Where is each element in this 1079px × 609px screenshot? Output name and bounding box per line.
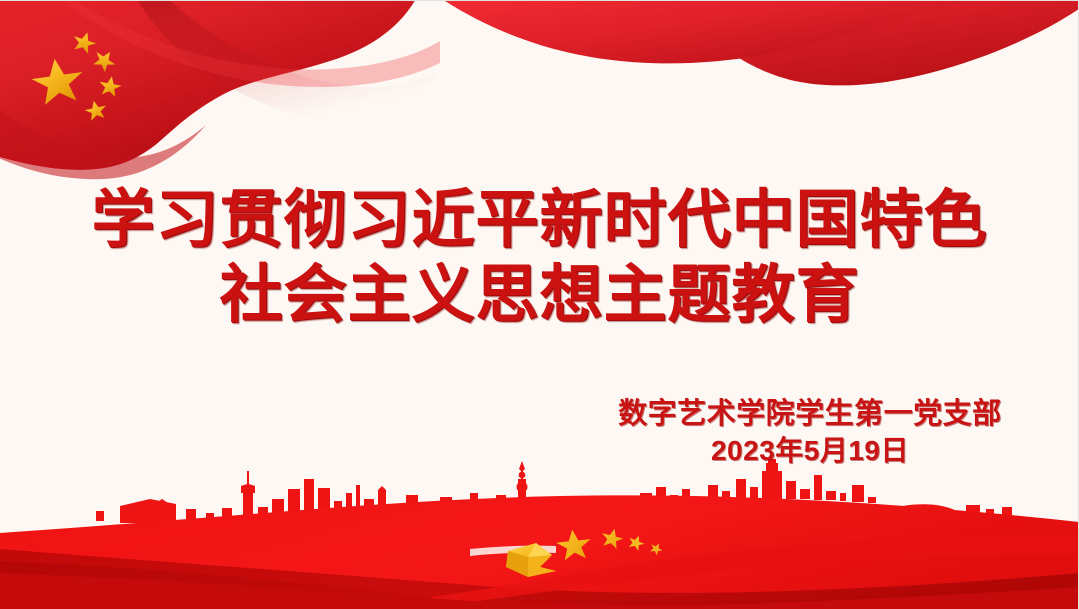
emblem-star-medium (599, 526, 625, 550)
flag-star-small-2 (90, 46, 120, 75)
emblem-star-small-2 (648, 540, 665, 556)
stadium-icon (546, 497, 632, 510)
flag-body-upper-right (300, 1, 1079, 85)
organization-name: 数字艺术学院学生第一党支部 (560, 399, 1060, 430)
band-notch-light (470, 546, 556, 556)
emblem-folded-ribbon (506, 543, 556, 577)
page-title: 学习贯彻习近平新时代中国特色 社会主义思想主题教育 (0, 189, 1079, 327)
flag-body-main (0, 1, 420, 170)
band-dark-upper-left (0, 549, 1079, 609)
flag-curl-right (430, 1, 1020, 63)
band-deep-lower-left (0, 561, 620, 609)
presentation-slide: 学习贯彻习近平新时代中国特色 社会主义思想主题教育 数字艺术学院学生第一党支部 … (0, 0, 1079, 609)
emblem-star-small-1 (626, 533, 646, 552)
title-line-2: 社会主义思想主题教育 (0, 264, 1079, 327)
band-bright-red (0, 495, 1079, 609)
band-mid-wave (0, 573, 1079, 609)
flag-star-large (29, 55, 86, 106)
emblem-star-large (555, 528, 592, 561)
band-light-ribbon-right (430, 535, 1079, 605)
flag-lower-left-edge (0, 97, 206, 179)
flag-star-small-3 (97, 74, 123, 97)
flag-star-small-1 (70, 29, 99, 56)
organization-block: 数字艺术学院学生第一党支部 2023年5月19日 (560, 399, 1060, 465)
pearl-tower-icon (512, 461, 532, 509)
city-skyline-silhouette (0, 459, 1079, 561)
flag-star-small-4 (83, 98, 108, 121)
title-line-1: 学习贯彻习近平新时代中国特色 (0, 189, 1079, 252)
flag-fold-shadow (132, 1, 438, 118)
presentation-date: 2023年5月19日 (560, 436, 1060, 466)
flag-highlight (50, 1, 440, 87)
